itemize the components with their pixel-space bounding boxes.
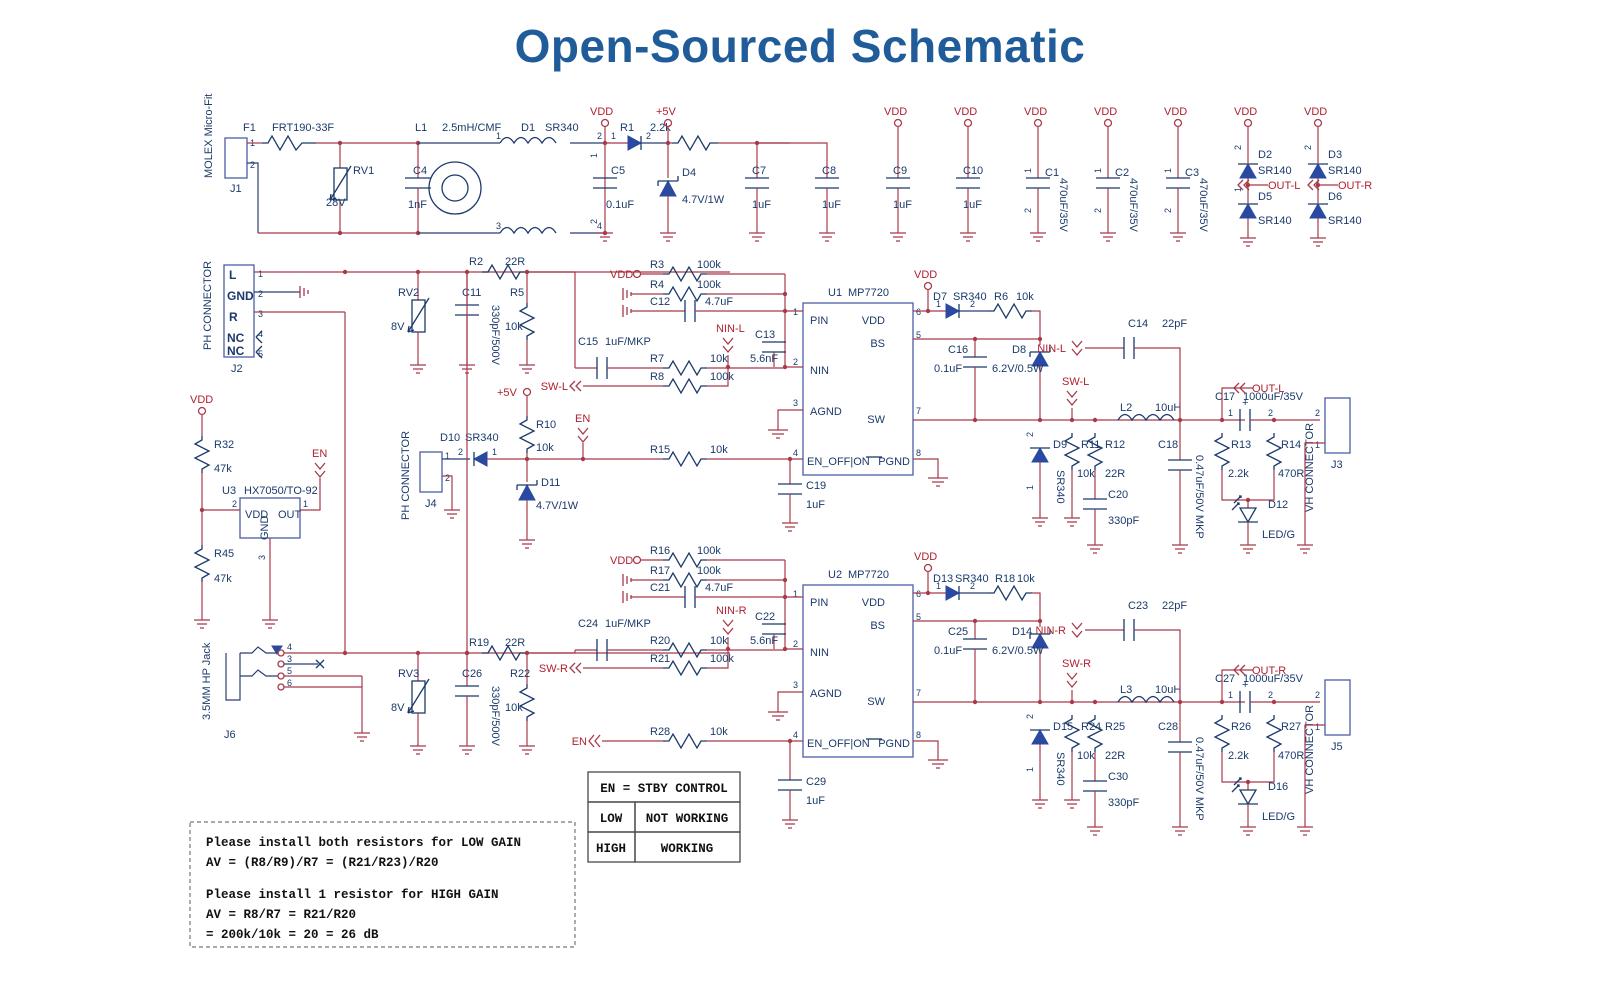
u2-pin-sw: SW (867, 696, 885, 708)
r10-value: 10k (536, 442, 554, 454)
net-en-r: EN (572, 736, 587, 748)
net-5v-1: +5V (656, 106, 677, 118)
j2-pin-nc1: NC (227, 331, 245, 345)
l3-value: 10uH (1155, 684, 1181, 696)
u2-pin-pgnd: PGND (878, 738, 910, 750)
net-out-l: OUT-L (1252, 383, 1284, 395)
j6-pin-4: 4 (287, 642, 292, 652)
d9-pin-2: 2 (1025, 432, 1035, 437)
u1-num-3: 3 (793, 398, 798, 408)
label-r6: R6 (994, 291, 1008, 303)
label-c18: C18 (1158, 439, 1178, 451)
label-c1: C1 (1045, 167, 1059, 179)
label-c15: C15 (578, 336, 598, 348)
label-c4: C4 (413, 165, 427, 177)
label-c11: C11 (462, 287, 481, 299)
ic-u2-part: MP7720 (848, 569, 889, 581)
c26-value: 330pF/500V (489, 686, 501, 747)
u2-num-7: 7 (916, 688, 921, 698)
r2-value: 22R (505, 256, 525, 268)
c24-value: 1uF/MKP (605, 618, 651, 630)
label-r25: R25 (1105, 721, 1125, 733)
j1-pin-2: 2 (250, 160, 255, 170)
connector-j4-name: PH CONNECTOR (400, 431, 412, 520)
net-vdd-r16: VDD (610, 555, 633, 567)
u3-pin-gnd: GND (259, 516, 271, 541)
en-table-row1-result: WORKING (661, 842, 714, 856)
connector-j3-ref: J3 (1331, 459, 1343, 471)
d12-value: LED/G (1262, 529, 1295, 541)
r5-value: 10k (505, 321, 523, 333)
label-r21: R21 (650, 653, 670, 665)
c17-pin-1: 1 (1228, 408, 1233, 418)
d3-pin-2: 2 (1303, 145, 1313, 150)
d9-value: SR340 (1054, 470, 1066, 504)
label-r1: R1 (620, 122, 634, 134)
label-r12: R12 (1105, 439, 1125, 451)
rv3-value: 8V (391, 702, 405, 714)
ic-u1-ref: U1 (828, 287, 842, 299)
d5-value: SR140 (1258, 215, 1292, 227)
c27-pin-2: 2 (1268, 690, 1273, 700)
r11-value: 10k (1077, 468, 1095, 480)
label-r10: R10 (536, 419, 556, 431)
c4-value: 1nF (408, 199, 427, 211)
c8-value: 1uF (822, 199, 841, 211)
label-c27: C27 (1215, 673, 1235, 685)
c27-pin-1: 1 (1228, 690, 1233, 700)
u2-num-3: 3 (793, 680, 798, 690)
u2-pin-nin: NIN (810, 647, 829, 659)
en-table-header: EN = STBY CONTROL (600, 782, 728, 796)
j6-pin-3: 3 (287, 654, 292, 664)
u1-pin-en: EN_OFF|ON (807, 456, 870, 468)
label-d8: D8 (1012, 344, 1026, 356)
ic-u3-ref: U3 (222, 485, 236, 497)
u3-num-1: 1 (303, 499, 308, 509)
label-c21: C21 (650, 582, 670, 594)
l2-value: 10uH (1155, 402, 1181, 414)
c21-value: 4.7uF (705, 582, 733, 594)
u2-pin-bs: BS (870, 620, 885, 632)
label-c7: C7 (752, 165, 766, 177)
label-r13: R13 (1231, 439, 1251, 451)
label-c9: C9 (893, 165, 907, 177)
ic-u2-ref: U2 (828, 569, 842, 581)
d7-value: SR340 (953, 291, 987, 303)
rv1-value: 28V (326, 197, 346, 209)
label-r3: R3 (650, 259, 664, 271)
connector-j2-ref: J2 (231, 363, 243, 375)
c23-value: 22pF (1162, 600, 1187, 612)
label-d5: D5 (1258, 191, 1272, 203)
u3-pin-out: OUT (278, 509, 302, 521)
label-c3: C3 (1185, 167, 1199, 179)
net-sw-r: SW-R (1062, 658, 1091, 670)
r25-value: 22R (1105, 750, 1125, 762)
d2-value: SR140 (1258, 165, 1292, 177)
label-d15: D15 (1053, 721, 1073, 733)
connector-j5-name: VH CONNECTOR (1304, 705, 1316, 794)
net-sw-l: SW-L (1062, 376, 1089, 388)
c9-value: 1uF (893, 199, 912, 211)
r19-value: 22R (505, 637, 525, 649)
c10-value: 1uF (963, 199, 982, 211)
net-nin-l-fb: NIN-L (1037, 343, 1066, 355)
net-out-l-top: OUT-L (1268, 180, 1300, 192)
rv2-value: 8V (391, 321, 405, 333)
c11-value: 330pF/500V (489, 305, 501, 366)
en-table-row0-state: LOW (600, 812, 623, 826)
r16-value: 100k (697, 545, 721, 557)
label-rv2: RV2 (398, 287, 419, 299)
r27-value: 470R (1278, 750, 1304, 762)
c17-pin-2: 2 (1268, 408, 1273, 418)
label-d14: D14 (1012, 626, 1032, 638)
u1-num-6: 6 (916, 307, 921, 317)
net-vdd-r3: VDD (610, 269, 633, 281)
r14-value: 470R (1278, 468, 1304, 480)
label-c20: C20 (1108, 489, 1128, 501)
r18-value: 10k (1017, 573, 1035, 585)
r6-value: 10k (1016, 291, 1034, 303)
net-vdd-c2: VDD (1094, 106, 1117, 118)
label-r28: R28 (650, 726, 670, 738)
r13-value: 2.2k (1228, 468, 1249, 480)
label-rv3: RV3 (398, 668, 419, 680)
d16-value: LED/G (1262, 811, 1295, 823)
j2-pin-nc2: NC (227, 344, 245, 358)
c20-value: 330pF (1108, 515, 1139, 527)
r22-value: 10k (505, 702, 523, 714)
c1-pin-2: 2 (1023, 208, 1033, 213)
label-c5: C5 (611, 165, 625, 177)
net-out-r-top: OUT-R (1338, 180, 1372, 192)
label-f1: F1 (243, 122, 256, 134)
d15-value: SR340 (1054, 752, 1066, 786)
label-l3: L3 (1120, 684, 1132, 696)
label-c13: C13 (755, 329, 775, 341)
c1-value: 470uF/35V (1057, 178, 1069, 232)
u2-num-4: 4 (793, 730, 798, 740)
u2-pin-pin: PIN (810, 597, 828, 609)
r45-value: 47k (214, 573, 232, 585)
j2-num-1: 1 (258, 269, 263, 279)
r28-value: 10k (710, 726, 728, 738)
label-c8: C8 (822, 165, 836, 177)
r17-value: 100k (697, 565, 721, 577)
c28-value: 0.47uF/50V MKP (1193, 737, 1205, 821)
label-r19: R19 (469, 637, 489, 649)
label-r27: R27 (1281, 721, 1301, 733)
net-vdd-u3: VDD (190, 394, 213, 406)
net-vdd-c10: VDD (954, 106, 977, 118)
c3-pin-2: 2 (1163, 208, 1173, 213)
r3-value: 100k (697, 259, 721, 271)
label-r7: R7 (650, 353, 664, 365)
net-vdd-u1: VDD (914, 269, 937, 281)
u3-num-2: 2 (232, 499, 237, 509)
gain-note-line5: = 200k/10k = 20 = 26 dB (206, 928, 379, 942)
c5-pin-1: 1 (589, 153, 599, 158)
u3-num-3: 3 (257, 555, 267, 560)
connector-j1-ref: J1 (230, 183, 242, 195)
label-c25: C25 (948, 626, 968, 638)
net-vdd-c9: VDD (884, 106, 907, 118)
label-d7: D7 (933, 291, 947, 303)
d6-value: SR140 (1328, 215, 1362, 227)
d10-pin-1: 1 (492, 447, 497, 457)
l1-pin-2: 2 (597, 131, 602, 141)
d14-value: 6.2V/0.5W (992, 645, 1044, 657)
label-d13: D13 (933, 573, 953, 585)
label-l2: L2 (1120, 402, 1132, 414)
c12-value: 4.7uF (705, 296, 733, 308)
u1-pin-pgnd: PGND (878, 456, 910, 468)
label-c10: C10 (963, 165, 983, 177)
label-c17: C17 (1215, 391, 1235, 403)
connector-j1-name: MOLEX Micro-Fit (203, 94, 215, 178)
r7-value: 10k (710, 353, 728, 365)
c25-value: 0.1uF (934, 645, 962, 657)
label-c19: C19 (806, 480, 826, 492)
r8-value: 100k (710, 371, 734, 383)
schematic-svg: Open-Sourced Schematic MOLEX Micro-Fit J… (0, 0, 1600, 990)
u2-pin-en: EN_OFF|ON (807, 738, 870, 750)
c2-pin-1: 1 (1093, 168, 1103, 173)
label-c26: C26 (462, 668, 482, 680)
label-c29: C29 (806, 776, 826, 788)
d11-value: 4.7V/1W (536, 500, 579, 512)
j2-pin-l: L (229, 268, 236, 282)
label-r45: R45 (214, 548, 234, 560)
net-vdd-c1: VDD (1024, 106, 1047, 118)
label-d12: D12 (1268, 499, 1288, 511)
net-nin-r-fb: NIN-R (1035, 625, 1066, 637)
d9-pin-1: 1 (1025, 485, 1035, 490)
label-c16: C16 (948, 344, 968, 356)
label-r2: R2 (469, 256, 483, 268)
r4-value: 100k (697, 279, 721, 291)
net-vdd-d2: VDD (1234, 106, 1257, 118)
d15-pin-2: 2 (1025, 714, 1035, 719)
d8-value: 6.2V/0.5W (992, 363, 1044, 375)
label-r11: R11 (1081, 439, 1100, 451)
d3-value: SR140 (1328, 165, 1362, 177)
connector-j4-ref: J4 (425, 498, 437, 510)
gain-note-line2: AV = (R8/R9)/R7 = (R21/R23)/R20 (206, 856, 439, 870)
label-r8: R8 (650, 371, 664, 383)
c7-value: 1uF (752, 199, 771, 211)
label-d2: D2 (1258, 149, 1272, 161)
u2-num-2: 2 (793, 639, 798, 649)
u2-pin-vdd: VDD (862, 597, 885, 609)
c16-value: 0.1uF (934, 363, 962, 375)
c18-value: 0.47uF/50V MKP (1193, 455, 1205, 539)
j4-pin-2: 2 (445, 473, 450, 483)
r20-value: 10k (710, 635, 728, 647)
u1-num-4: 4 (793, 448, 798, 458)
u1-pin-nin: NIN (810, 365, 829, 377)
label-d10: D10 (440, 432, 460, 444)
f1-value: FRT190-33F (272, 122, 334, 134)
ic-u3-part: HX7050/TO-92 (244, 485, 318, 497)
label-d6: D6 (1328, 191, 1342, 203)
l1-value: 2.5mH/CMF (442, 122, 502, 134)
net-en-u3: EN (312, 448, 327, 460)
label-r16: R16 (650, 545, 670, 557)
r21-value: 100k (710, 653, 734, 665)
d2-pin-2: 2 (1233, 145, 1243, 150)
label-r15: R15 (650, 444, 670, 456)
net-sw-l-in: SW-L (541, 381, 568, 393)
u1-num-1: 1 (793, 307, 798, 317)
label-c2: C2 (1115, 167, 1129, 179)
c5-pin-2: 2 (589, 219, 599, 224)
gain-note-line4: AV = R8/R7 = R21/R20 (206, 908, 356, 922)
u2-num-8: 8 (916, 730, 921, 740)
connector-j2-name: PH CONNECTOR (202, 261, 214, 350)
label-l1: L1 (415, 122, 427, 134)
label-r32: R32 (214, 439, 234, 451)
j2-pin-r: R (229, 310, 238, 324)
net-vdd-d3: VDD (1304, 106, 1327, 118)
d10-pin-2: 2 (458, 447, 463, 457)
j6-pin-5: 5 (287, 666, 292, 676)
label-r20: R20 (650, 635, 670, 647)
net-5v-r10: +5V (497, 387, 518, 399)
u1-num-2: 2 (793, 357, 798, 367)
label-r26: R26 (1231, 721, 1251, 733)
en-table-row0-result: NOT WORKING (646, 812, 729, 826)
label-d3: D3 (1328, 149, 1342, 161)
r26-value: 2.2k (1228, 750, 1249, 762)
d4-value: 4.7V/1W (682, 194, 725, 206)
net-nin-l: NIN-L (716, 323, 745, 335)
c19-value: 1uF (806, 499, 825, 511)
label-r18: R18 (995, 573, 1015, 585)
net-sw-r-in: SW-R (539, 663, 568, 675)
label-c24: C24 (578, 618, 598, 630)
net-vdd-1: VDD (590, 106, 613, 118)
gain-note-line1: Please install both resistors for LOW GA… (206, 836, 521, 850)
u1-pin-agnd: AGND (810, 406, 842, 418)
net-nin-r: NIN-R (716, 605, 747, 617)
j2-num-3: 3 (258, 309, 263, 319)
c3-value: 470uF/35V (1197, 178, 1209, 232)
label-d16: D16 (1268, 781, 1288, 793)
c29-value: 1uF (806, 795, 825, 807)
connector-j6-ref: J6 (224, 729, 236, 741)
u1-pin-vdd: VDD (862, 315, 885, 327)
j2-num-2: 2 (258, 289, 263, 299)
d1-pin-1: 1 (611, 131, 616, 141)
c1-pin-1: 1 (1023, 168, 1033, 173)
u1-pin-pin: PIN (810, 315, 828, 327)
label-r4: R4 (650, 279, 664, 291)
ic-u1-part: MP7720 (848, 287, 889, 299)
d15-pin-1: 1 (1025, 767, 1035, 772)
connector-j3-name: VH CONNECTOR (1304, 423, 1316, 512)
net-out-r: OUT-R (1252, 665, 1286, 677)
u1-num-8: 8 (916, 448, 921, 458)
r24-value: 10k (1077, 750, 1095, 762)
u2-pin-agnd: AGND (810, 688, 842, 700)
j5-pin-2: 2 (1315, 690, 1320, 700)
connector-j5-ref: J5 (1331, 741, 1343, 753)
j3-pin-2: 2 (1315, 408, 1320, 418)
schematic-canvas: Open-Sourced Schematic MOLEX Micro-Fit J… (0, 0, 1600, 990)
connector-j6-name: 3.5MM HP Jack (201, 642, 213, 720)
r32-value: 47k (214, 463, 232, 475)
label-c12: C12 (650, 296, 670, 308)
label-d4: D4 (682, 167, 696, 179)
r15-value: 10k (710, 444, 728, 456)
u1-pin-bs: BS (870, 338, 885, 350)
c2-pin-2: 2 (1093, 208, 1103, 213)
r12-value: 22R (1105, 468, 1125, 480)
label-c14: C14 (1128, 318, 1148, 330)
gain-note-line3: Please install 1 resistor for HIGH GAIN (206, 888, 499, 902)
c15-value: 1uF/MKP (605, 336, 651, 348)
c2-value: 470uF/35V (1127, 178, 1139, 232)
label-r5: R5 (510, 287, 524, 299)
u2-num-6: 6 (916, 589, 921, 599)
net-vdd-u2: VDD (914, 551, 937, 563)
en-table-row1-state: HIGH (596, 842, 626, 856)
d13-value: SR340 (955, 573, 989, 585)
net-vdd-c3: VDD (1164, 106, 1187, 118)
label-c30: C30 (1108, 771, 1128, 783)
u1-pin-sw: SW (867, 414, 885, 426)
d10-value: SR340 (465, 432, 499, 444)
label-c22: C22 (755, 611, 775, 623)
label-rv1: RV1 (353, 165, 374, 177)
label-r17: R17 (650, 565, 670, 577)
label-d1: D1 (521, 122, 535, 134)
label-r22: R22 (510, 668, 530, 680)
label-c23: C23 (1128, 600, 1148, 612)
net-en-mid: EN (575, 413, 590, 425)
c13-value: 5.6nF (750, 353, 778, 365)
c30-value: 330pF (1108, 797, 1139, 809)
d1-value: SR340 (545, 122, 579, 134)
c5-value: 0.1uF (606, 199, 634, 211)
j2-pin-gnd: GND (227, 289, 254, 303)
l1-pin-3: 3 (496, 221, 501, 231)
label-d11: D11 (541, 477, 560, 489)
c22-value: 5.6nF (750, 635, 778, 647)
u1-num-7: 7 (916, 406, 921, 416)
page-title: Open-Sourced Schematic (515, 20, 1086, 72)
label-c28: C28 (1158, 721, 1178, 733)
c3-pin-1: 1 (1163, 168, 1173, 173)
c14-value: 22pF (1162, 318, 1187, 330)
label-r14: R14 (1281, 439, 1301, 451)
